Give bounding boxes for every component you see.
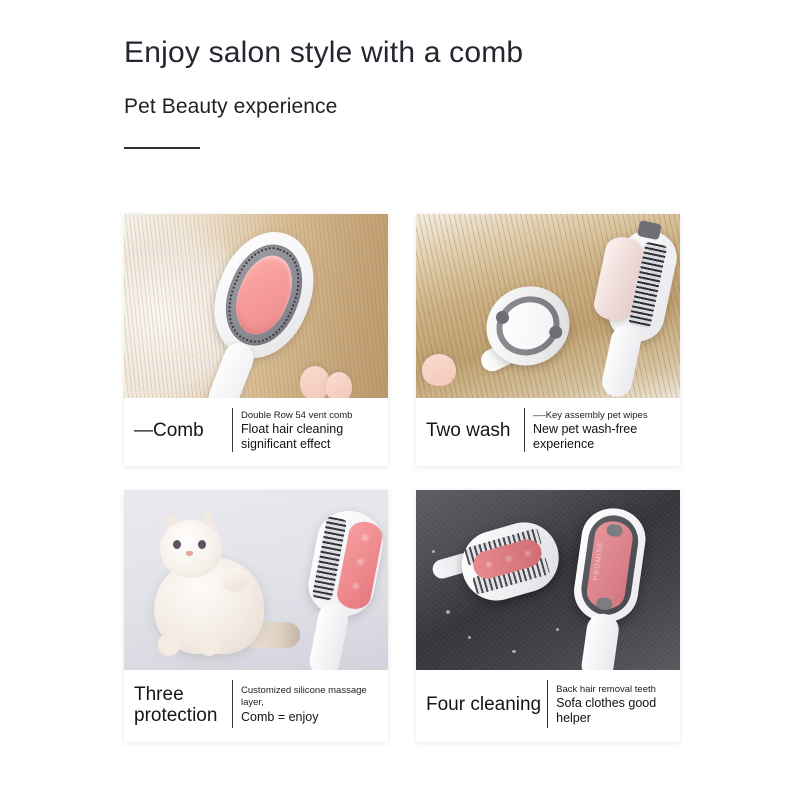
page-title: Enjoy salon style with a comb [124,36,764,69]
card-caption: Four cleaning Back hair removal teeth So… [416,670,680,742]
card-caption: —Comb Double Row 54 vent comb Float hair… [124,398,388,466]
cat-eye [198,540,206,549]
caption-separator [232,408,233,452]
page-subtitle: Pet Beauty experience [124,95,764,119]
brush-handle [599,323,643,398]
product-feature-page: Enjoy salon style with a comb Pet Beauty… [0,0,800,800]
card-desc-big: Sofa clothes good helper [556,696,672,726]
card-desc-big: Comb = enjoy [241,710,380,725]
hand-finger [422,354,456,386]
hand-finger [326,372,352,398]
feature-card-comb[interactable]: —Comb Double Row 54 vent comb Float hair… [124,214,388,466]
card-desc-big: New pet wash-free experience [533,422,672,452]
lint-speck [468,636,471,639]
feature-card-two-wash[interactable]: Two wash —-Key assembly pet wipes New pe… [416,214,680,466]
feature-card-three-protection[interactable]: Three protection Customized silicone mas… [124,490,388,742]
page-header: Enjoy salon style with a comb Pet Beauty… [124,36,764,149]
card-description: Back hair removal teeth Sofa clothes goo… [556,684,672,727]
cat-leg [198,634,220,656]
lint-speck [512,650,516,653]
caption-separator [547,680,548,728]
cat-raised-paw [222,568,248,592]
cat-illustration [140,506,300,664]
card-desc-small: Double Row 54 vent comb [241,410,380,422]
card-desc-big: Float hair cleaning significant effect [241,422,380,452]
card-heading: —Comb [134,420,226,441]
card-caption: Three protection Customized silicone mas… [124,670,388,742]
card-image-three-protection [124,490,388,670]
caption-separator [524,408,525,452]
card-heading: Three protection [134,684,226,727]
card-image-two-wash [416,214,680,398]
card-description: —-Key assembly pet wipes New pet wash-fr… [533,410,672,453]
feature-card-four-cleaning[interactable]: PROMISE Four cleaning Back hair removal … [416,490,680,742]
brush-handle [307,601,351,670]
card-heading: Four cleaning [426,694,541,715]
cat-eye [173,540,181,549]
header-divider-rule [124,147,200,149]
card-description: Customized silicone massage layer, Comb … [241,685,380,724]
card-caption: Two wash —-Key assembly pet wipes New pe… [416,398,680,466]
cat-leg [158,634,180,656]
brand-label: PROMISE [593,546,627,584]
card-image-comb [124,214,388,398]
card-heading: Two wash [426,420,518,441]
feature-card-grid: —Comb Double Row 54 vent comb Float hair… [124,214,680,742]
brush-handle [580,612,621,670]
card-description: Double Row 54 vent comb Float hair clean… [241,410,380,453]
card-image-four-cleaning: PROMISE [416,490,680,670]
caption-separator [232,680,233,728]
card-desc-small: Customized silicone massage layer, [241,685,380,708]
card-desc-small: —-Key assembly pet wipes [533,410,672,422]
cat-nose [186,551,193,556]
card-desc-small: Back hair removal teeth [556,684,672,696]
cat-head [160,520,222,578]
